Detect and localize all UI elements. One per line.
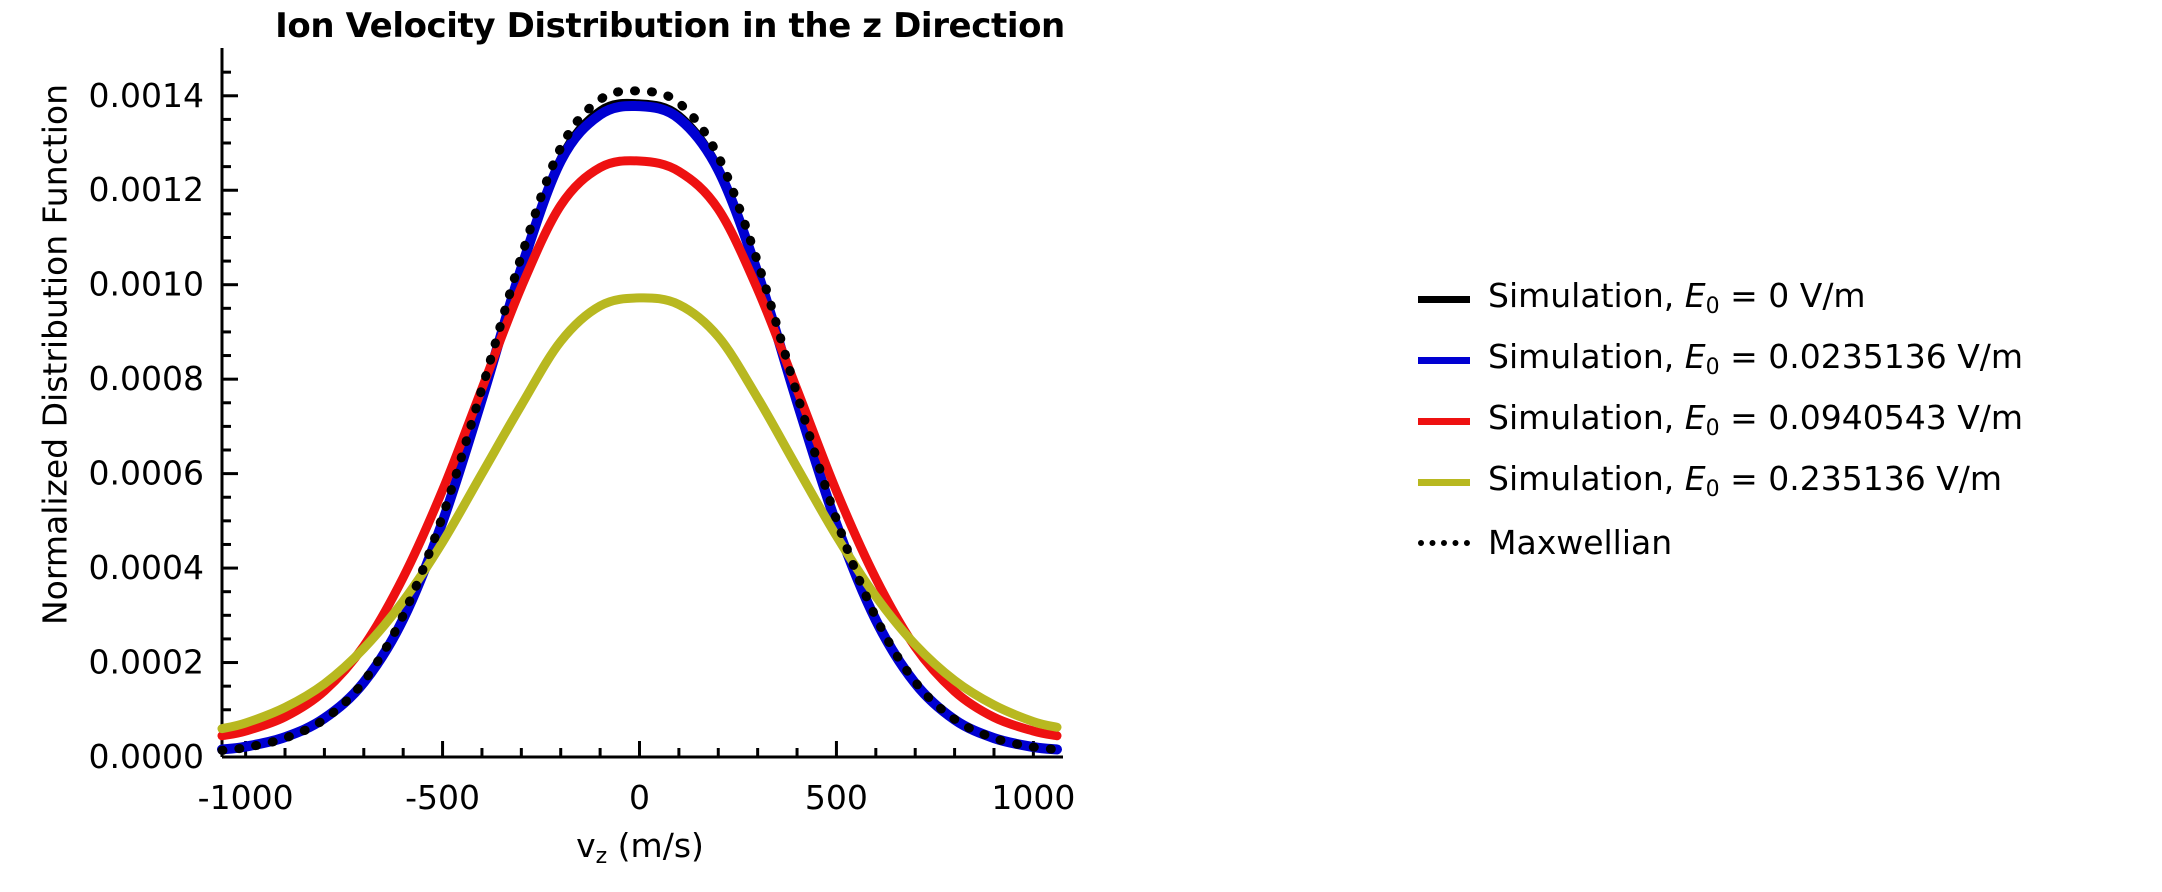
legend-line-swatch (1418, 418, 1470, 425)
x-tick-label: 0 (629, 778, 650, 817)
legend-label-symbol: E (1685, 276, 1706, 315)
legend-label-subscript: 0 (1706, 477, 1720, 502)
legend-item-label: Maxwellian (1488, 526, 1672, 559)
x-tick-label: 500 (805, 778, 868, 817)
legend-swatch-icon (1418, 284, 1470, 314)
legend-swatch-icon (1418, 406, 1470, 436)
legend-label-subscript: 0 (1706, 355, 1720, 380)
legend-swatch-icon (1418, 528, 1470, 558)
legend-label-value: = 0 V/m (1720, 276, 1866, 315)
legend-swatch-icon (1418, 345, 1470, 375)
axes (222, 48, 1063, 757)
series-line-2 (222, 161, 1057, 736)
legend-item-label: Simulation, E0 = 0.0940543 V/m (1488, 401, 2023, 440)
tick-labels: -1000-500050010000.00000.00020.00040.000… (89, 76, 1076, 817)
legend-label-value: = 0.0235136 V/m (1720, 337, 2023, 376)
legend-swatch-icon (1418, 467, 1470, 497)
y-tick-label: 0.0010 (89, 265, 204, 304)
legend-item[interactable]: Simulation, E0 = 0 V/m (1418, 268, 2158, 329)
y-tick-label: 0.0002 (89, 643, 204, 682)
legend-line-swatch (1418, 296, 1470, 303)
y-tick-label: 0.0014 (89, 76, 204, 115)
x-tick-label: -1000 (198, 778, 294, 817)
legend-item[interactable]: Maxwellian (1418, 512, 2158, 573)
y-tick-label: 0.0004 (89, 548, 204, 587)
legend-label-value: = 0.0940543 V/m (1720, 398, 2023, 437)
legend-label-prefix: Maxwellian (1488, 523, 1672, 562)
y-tick-label: 0.0000 (89, 737, 204, 776)
series-line-0 (222, 102, 1057, 749)
legend-line-swatch (1418, 357, 1470, 364)
legend-label-symbol: E (1685, 459, 1706, 498)
x-tick-label: 1000 (991, 778, 1075, 817)
legend-item[interactable]: Simulation, E0 = 0.0940543 V/m (1418, 390, 2158, 451)
legend-label-subscript: 0 (1706, 294, 1720, 319)
legend-label-symbol: E (1685, 398, 1706, 437)
legend-line-swatch (1418, 540, 1470, 546)
series-line-1 (222, 106, 1057, 750)
legend-label-value: = 0.235136 V/m (1720, 459, 2002, 498)
chart-legend: Simulation, E0 = 0 V/mSimulation, E0 = 0… (1418, 268, 2158, 573)
x-tick-label: -500 (405, 778, 480, 817)
legend-label-symbol: E (1685, 337, 1706, 376)
legend-label-prefix: Simulation, (1488, 459, 1685, 498)
legend-item-label: Simulation, E0 = 0.235136 V/m (1488, 462, 2002, 501)
legend-item[interactable]: Simulation, E0 = 0.0235136 V/m (1418, 329, 2158, 390)
legend-label-prefix: Simulation, (1488, 398, 1685, 437)
data-series-layer (222, 91, 1057, 751)
y-tick-label: 0.0008 (89, 359, 204, 398)
legend-label-subscript: 0 (1706, 416, 1720, 441)
y-tick-label: 0.0006 (89, 454, 204, 493)
series-line-3 (222, 298, 1057, 729)
legend-item[interactable]: Simulation, E0 = 0.235136 V/m (1418, 451, 2158, 512)
legend-label-prefix: Simulation, (1488, 337, 1685, 376)
legend-label-prefix: Simulation, (1488, 276, 1685, 315)
y-tick-label: 0.0012 (89, 170, 204, 209)
series-line-4 (222, 91, 1057, 751)
legend-item-label: Simulation, E0 = 0 V/m (1488, 279, 1866, 318)
chart-figure: Ion Velocity Distribution in the z Direc… (0, 0, 2162, 892)
legend-line-swatch (1418, 479, 1470, 486)
legend-item-label: Simulation, E0 = 0.0235136 V/m (1488, 340, 2023, 379)
